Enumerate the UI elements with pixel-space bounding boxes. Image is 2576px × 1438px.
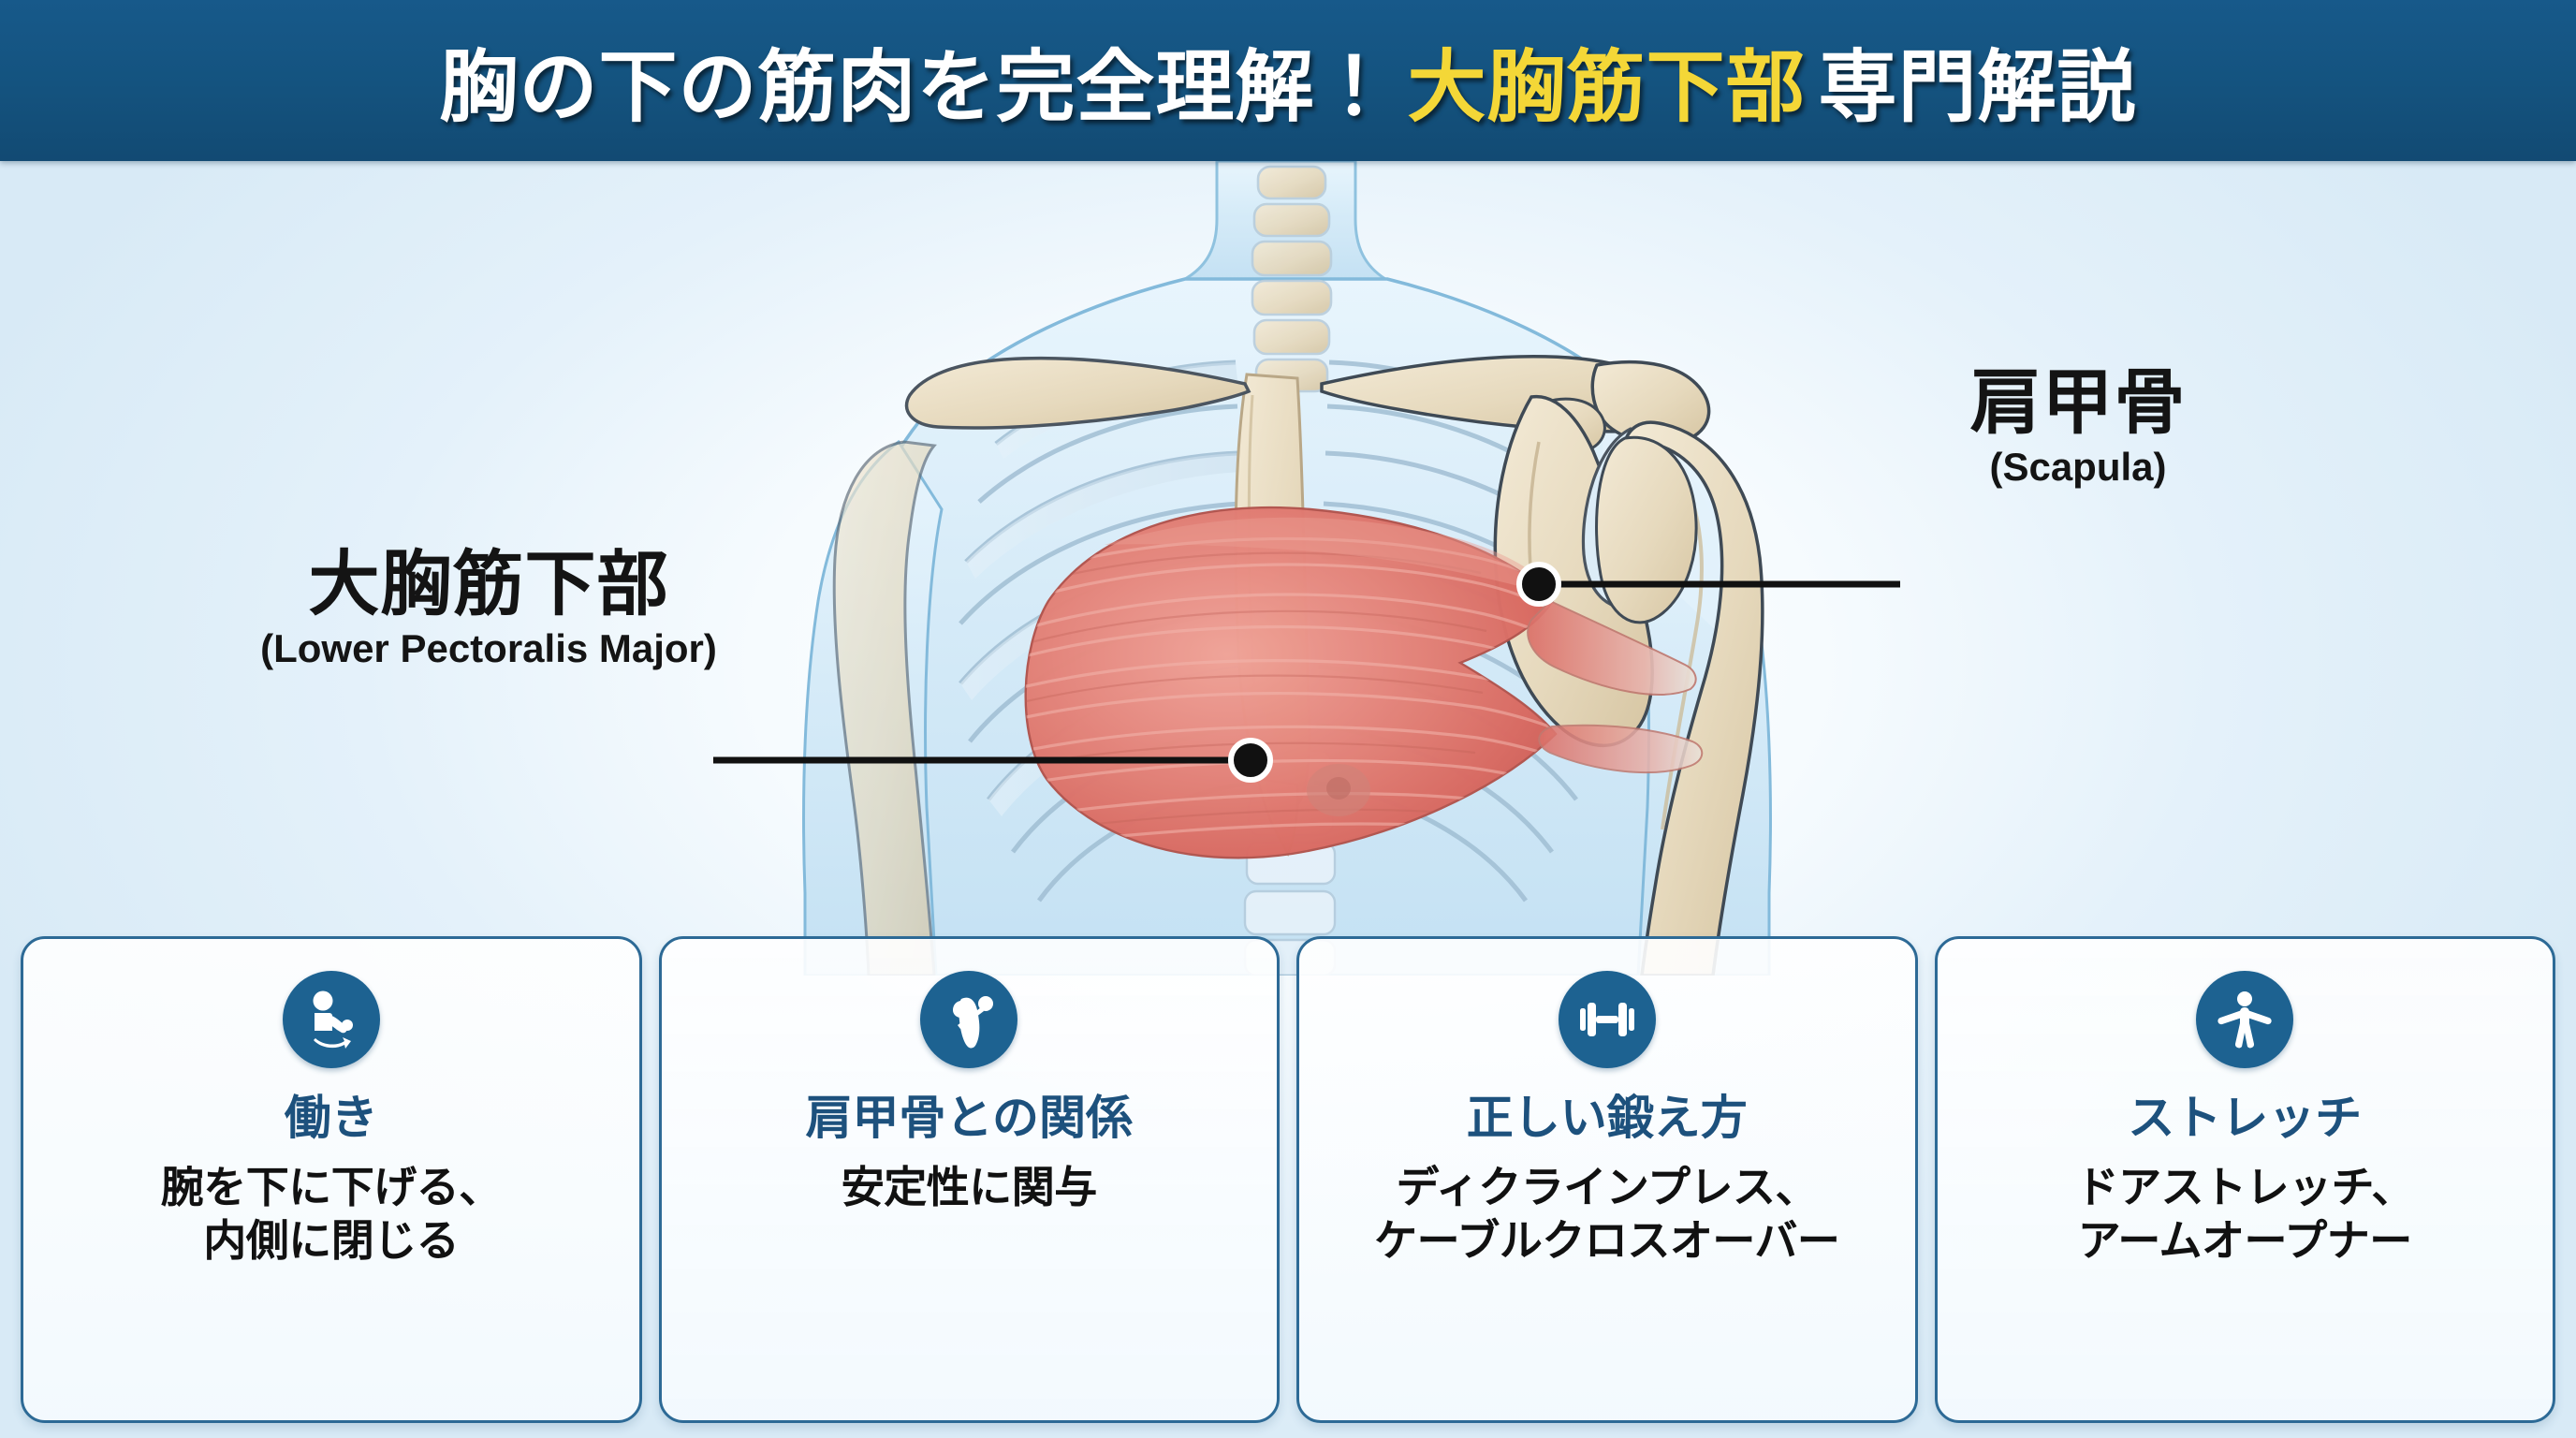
card-training-title: 正しい鍛え方 <box>1467 1093 1748 1144</box>
card-stretch[interactable]: ストレッチ ドアストレッチ、 アームオープナー <box>1935 936 2556 1423</box>
card-stretch-desc-line2: アームオープナー <box>2076 1214 2414 1268</box>
infographic-canvas: 胸の下の筋肉を完全理解！大胸筋下部専門解説 <box>0 0 2576 1438</box>
card-scapula-relation[interactable]: 肩甲骨との関係 安定性に関与 <box>659 936 1281 1423</box>
callout-scapula-jp: 肩甲骨 <box>1910 367 2247 440</box>
dumbbell-icon <box>1559 971 1656 1068</box>
title-highlight: 大胸筋下部 <box>1407 43 1805 131</box>
card-stretch-desc-line1: ドアストレッチ、 <box>2076 1163 2414 1211</box>
title-part1: 胸の下の筋肉を完全理解！ <box>439 43 1394 131</box>
title-part2: 専門解説 <box>1819 43 2137 131</box>
card-scapula-relation-title: 肩甲骨との関係 <box>806 1093 1134 1144</box>
scapula-bone-icon <box>920 971 1017 1068</box>
card-training[interactable]: 正しい鍛え方 ディクラインプレス、 ケーブルクロスオーバー <box>1296 936 1918 1423</box>
callout-scapula: 肩甲骨 (Scapula) <box>1910 367 2247 489</box>
header-bar: 胸の下の筋肉を完全理解！大胸筋下部専門解説 <box>0 0 2576 161</box>
card-training-desc-line2: ケーブルクロスオーバー <box>1374 1214 1839 1268</box>
callout-pectoralis-en: (Lower Pectoralis Major) <box>198 627 779 670</box>
person-arms-open-icon <box>2196 971 2293 1068</box>
callout-scapula-en: (Scapula) <box>1910 446 2247 489</box>
card-scapula-relation-desc-line1: 安定性に関与 <box>842 1163 1097 1211</box>
card-training-desc-line1: ディクラインプレス、 <box>1397 1163 1818 1211</box>
card-function-desc-line1: 腕を下に下げる、 <box>161 1163 502 1211</box>
card-function-desc-line2: 内側に閉じる <box>161 1214 502 1268</box>
page-title: 胸の下の筋肉を完全理解！大胸筋下部専門解説 <box>439 24 2136 138</box>
card-function[interactable]: 働き 腕を下に下げる、 内側に閉じる <box>21 936 642 1423</box>
card-training-desc: ディクラインプレス、 ケーブルクロスオーバー <box>1374 1161 1839 1268</box>
card-scapula-relation-desc: 安定性に関与 <box>842 1161 1097 1214</box>
callout-pectoralis-jp: 大胸筋下部 <box>198 549 779 622</box>
card-stretch-desc: ドアストレッチ、 アームオープナー <box>2076 1161 2414 1268</box>
callout-pectoralis: 大胸筋下部 (Lower Pectoralis Major) <box>198 549 779 670</box>
card-function-desc: 腕を下に下げる、 内側に閉じる <box>161 1161 502 1268</box>
card-stretch-title: ストレッチ <box>2128 1093 2362 1144</box>
card-function-title: 働き <box>285 1093 378 1144</box>
feature-cards: 働き 腕を下に下げる、 内側に閉じる 肩甲骨との関係 安定性に関与 <box>0 936 2576 1423</box>
person-arm-lower-motion-icon <box>283 971 380 1068</box>
